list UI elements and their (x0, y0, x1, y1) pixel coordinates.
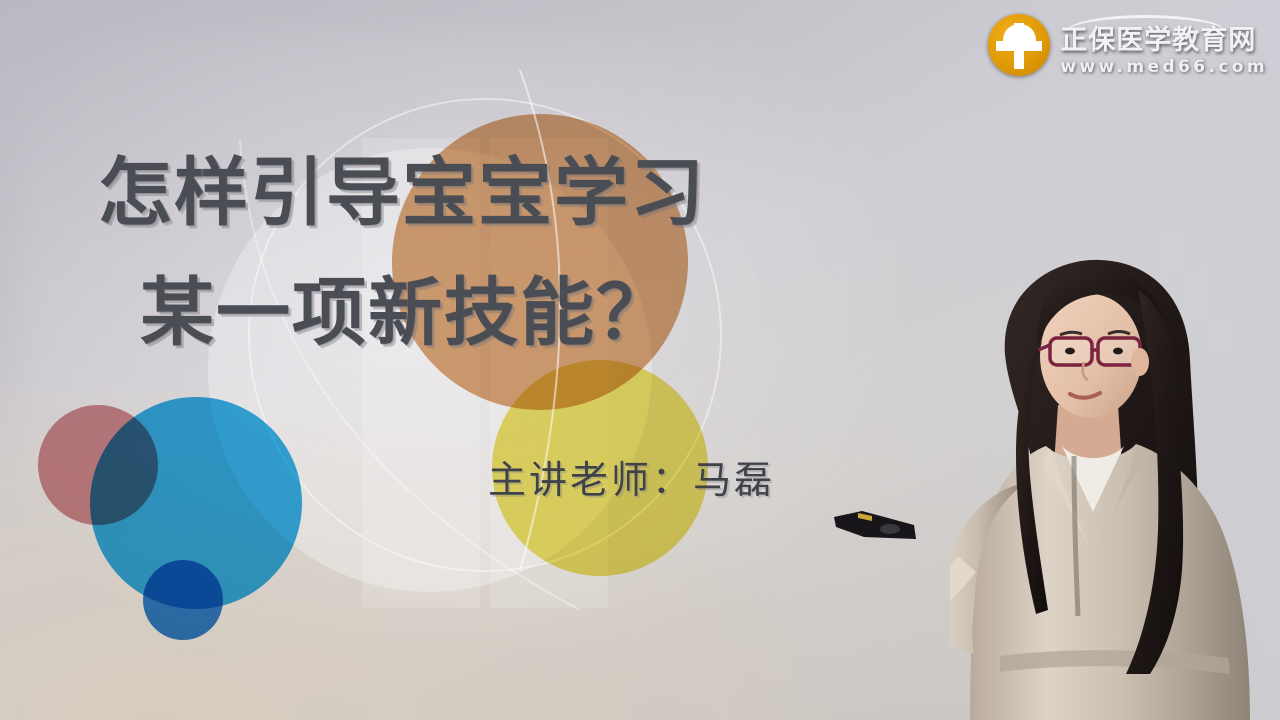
slide-swoosh-lines (0, 0, 1020, 720)
watermark-text: 正保医学教育网 www.med66.com (1060, 15, 1268, 76)
watermark-logo: 正保医学教育网 www.med66.com (988, 14, 1268, 76)
eye-right (1113, 348, 1123, 355)
ear (1131, 348, 1149, 376)
presenter-remote-icon (828, 505, 924, 557)
eye-left (1065, 348, 1075, 355)
slide-title-line-2: 某一项新技能？ (140, 276, 672, 350)
slide-title-line-1: 怎样引导宝宝学习 (98, 156, 706, 230)
slide-presenter-label: 主讲老师：马磊 (488, 449, 775, 504)
projected-slide: 怎样引导宝宝学习 某一项新技能？ 主讲老师：马磊 (0, 0, 1020, 720)
medical-cross-circle-icon (988, 14, 1050, 76)
video-frame: 怎样引导宝宝学习 某一项新技能？ 主讲老师：马磊 (0, 0, 1280, 720)
coat-body (970, 444, 1250, 720)
watermark-arc-decoration (1066, 15, 1226, 32)
instructor-figure (950, 250, 1280, 720)
watermark-url: www.med66.com (1060, 59, 1268, 76)
